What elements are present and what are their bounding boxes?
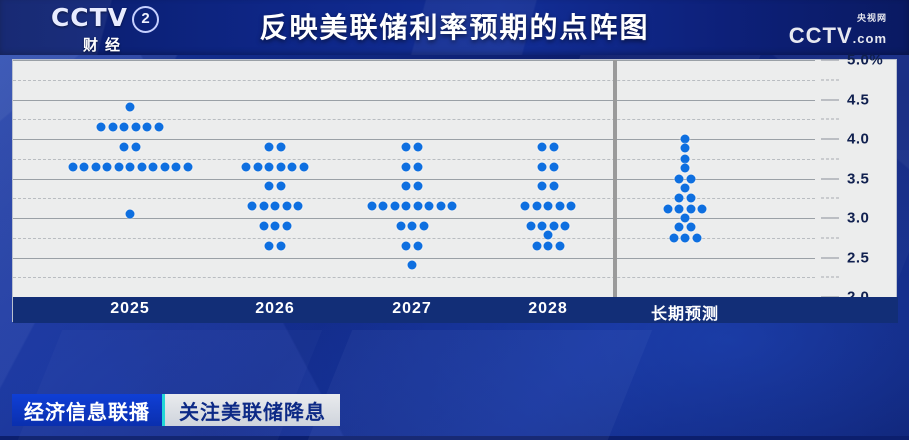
dot-marker	[413, 202, 422, 211]
dot-marker	[91, 162, 100, 171]
gridline-major	[13, 60, 815, 61]
dot-marker	[103, 162, 112, 171]
dot-marker	[276, 241, 285, 250]
cctv-com-suffix: .com	[853, 31, 887, 46]
dot-marker	[253, 162, 262, 171]
dot-marker	[663, 204, 672, 213]
dot-marker	[242, 162, 251, 171]
dot-marker	[299, 162, 308, 171]
page-title: 反映美联储利率预期的点阵图	[0, 6, 909, 46]
cctv-com-cn-label: 央视网	[789, 14, 887, 23]
dot-marker	[561, 221, 570, 230]
gridline-minor	[13, 80, 815, 81]
dot-marker	[413, 182, 422, 191]
y-axis-tick	[821, 218, 839, 219]
y-axis-label: 3.5	[847, 170, 869, 187]
x-axis: 2025202620272028长期预测	[13, 297, 898, 323]
dot-marker	[538, 182, 547, 191]
dot-marker	[555, 202, 564, 211]
dot-plot-area	[13, 60, 815, 297]
gridline-minor	[13, 159, 815, 160]
dot-marker	[532, 202, 541, 211]
dot-marker	[669, 233, 678, 242]
dot-marker	[131, 142, 140, 151]
dot-marker	[686, 223, 695, 232]
dot-marker	[402, 202, 411, 211]
dot-marker	[681, 164, 690, 173]
channel-header: CCTV2 财经 反映美联储利率预期的点阵图 央视网 CCTV.com	[0, 0, 909, 55]
dot-marker	[681, 214, 690, 223]
dot-marker	[526, 221, 535, 230]
x-axis-label: 2026	[255, 300, 295, 318]
y-axis-label: 4.0	[847, 131, 869, 148]
dot-marker	[108, 123, 117, 132]
y-axis-tick	[821, 139, 839, 140]
dot-marker	[549, 182, 558, 191]
dot-marker	[675, 223, 684, 232]
dot-marker	[367, 202, 376, 211]
y-axis-label: 4.5	[847, 91, 869, 108]
dot-marker	[544, 241, 553, 250]
y-axis-tick	[821, 99, 839, 100]
dot-marker	[248, 202, 257, 211]
dot-marker	[120, 123, 129, 132]
gridline-major	[13, 100, 815, 101]
dot-marker	[288, 162, 297, 171]
dot-marker	[408, 221, 417, 230]
y-axis-label: 2.5	[847, 249, 869, 266]
x-axis-label: 长期预测	[651, 300, 719, 324]
x-axis-label: 2027	[392, 300, 432, 318]
dot-marker	[282, 202, 291, 211]
dot-marker	[549, 221, 558, 230]
dot-marker	[294, 202, 303, 211]
y-axis-tick	[821, 119, 839, 120]
y-axis-tick	[821, 277, 839, 278]
x-axis-label: 2028	[528, 300, 568, 318]
dot-marker	[259, 202, 268, 211]
y-axis: 5.0%4.54.03.53.02.52.0	[815, 60, 898, 297]
y-axis-label: 5.0%	[847, 52, 883, 69]
y-axis-tick	[821, 257, 839, 258]
dot-marker	[692, 233, 701, 242]
dot-marker	[686, 194, 695, 203]
dot-marker	[544, 231, 553, 240]
dot-marker	[265, 182, 274, 191]
dot-plot-panel: 5.0%4.54.03.53.02.52.0 2025202620272028长…	[12, 59, 897, 322]
dot-marker	[172, 162, 181, 171]
dot-marker	[114, 162, 123, 171]
dot-marker	[402, 182, 411, 191]
dot-marker	[681, 233, 690, 242]
program-name: 经济信息联播	[12, 394, 165, 426]
dot-marker	[282, 221, 291, 230]
dot-marker	[265, 241, 274, 250]
y-axis-tick	[821, 198, 839, 199]
dot-marker	[131, 123, 140, 132]
dot-marker	[390, 202, 399, 211]
y-axis-tick	[821, 178, 839, 179]
dot-marker	[265, 162, 274, 171]
gridline-minor	[13, 277, 815, 278]
dot-marker	[276, 182, 285, 191]
dot-marker	[126, 162, 135, 171]
dot-marker	[413, 241, 422, 250]
dot-marker	[549, 142, 558, 151]
dot-marker	[80, 162, 89, 171]
dot-marker	[413, 142, 422, 151]
dot-marker	[681, 144, 690, 153]
background-facet	[308, 330, 652, 440]
dot-marker	[402, 142, 411, 151]
dot-marker	[675, 204, 684, 213]
y-axis-tick	[821, 79, 839, 80]
dot-marker	[681, 135, 690, 144]
dot-marker	[271, 202, 280, 211]
y-axis-label: 3.0	[847, 210, 869, 227]
lower-third-banner: 经济信息联播 关注美联储降息	[12, 394, 340, 426]
dot-marker	[686, 204, 695, 213]
dot-marker	[68, 162, 77, 171]
dot-marker	[549, 162, 558, 171]
x-axis-label: 2025	[110, 300, 150, 318]
dot-marker	[396, 221, 405, 230]
dot-marker	[681, 183, 690, 192]
dot-marker	[149, 162, 158, 171]
topic-headline: 关注美联储降息	[165, 394, 340, 426]
dot-marker	[271, 221, 280, 230]
gridline-major	[13, 218, 815, 219]
dot-marker	[379, 202, 388, 211]
dot-marker	[681, 154, 690, 163]
long-term-divider	[613, 60, 617, 297]
dot-marker	[265, 142, 274, 151]
dot-marker	[259, 221, 268, 230]
dot-marker	[532, 241, 541, 250]
gridline-major	[13, 139, 815, 140]
dot-marker	[402, 162, 411, 171]
dot-marker	[137, 162, 146, 171]
dot-marker	[413, 162, 422, 171]
dot-marker	[538, 162, 547, 171]
dot-marker	[143, 123, 152, 132]
dot-marker	[675, 194, 684, 203]
dot-marker	[567, 202, 576, 211]
dot-marker	[436, 202, 445, 211]
dot-marker	[448, 202, 457, 211]
dot-marker	[154, 123, 163, 132]
y-axis-tick	[821, 158, 839, 159]
gridline-minor	[13, 119, 815, 120]
dot-marker	[675, 174, 684, 183]
dot-marker	[160, 162, 169, 171]
dot-marker	[538, 142, 547, 151]
dot-marker	[419, 221, 428, 230]
cctv-com-wordmark: CCTV	[789, 23, 853, 48]
dot-marker	[97, 123, 106, 132]
dot-marker	[686, 174, 695, 183]
dot-marker	[425, 202, 434, 211]
cctv-com-logo: 央视网 CCTV.com	[789, 14, 887, 49]
dot-marker	[276, 162, 285, 171]
dot-marker	[521, 202, 530, 211]
dot-marker	[698, 204, 707, 213]
dot-marker	[126, 210, 135, 219]
dot-marker	[276, 142, 285, 151]
dot-marker	[126, 103, 135, 112]
dot-marker	[555, 241, 564, 250]
dot-marker	[402, 241, 411, 250]
dot-marker	[120, 142, 129, 151]
gridline-major	[13, 258, 815, 259]
dot-marker	[408, 261, 417, 270]
y-axis-tick	[821, 237, 839, 238]
dot-marker	[538, 221, 547, 230]
dot-marker	[544, 202, 553, 211]
dot-marker	[183, 162, 192, 171]
y-axis-tick	[821, 60, 839, 61]
